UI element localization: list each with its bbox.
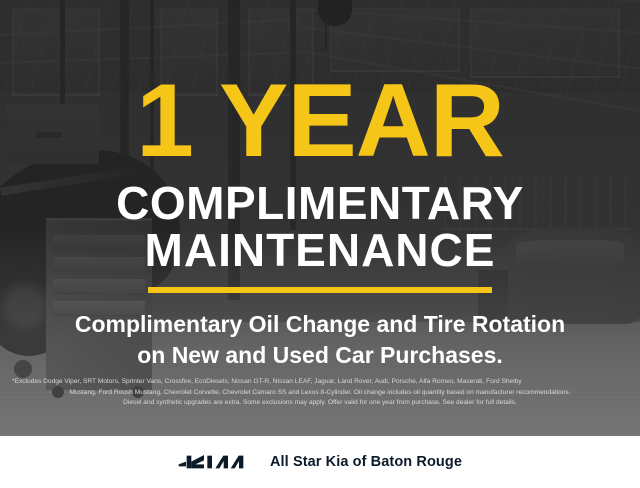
hero-copy: 1 YEAR COMPLIMENTARY MAINTENANCE Complim… <box>0 0 640 436</box>
disclaimer-text: *Excludes Dodge Viper, SRT Motors, Sprin… <box>12 377 628 409</box>
promo-text: Complimentary Oil Change and Tire Rotati… <box>75 309 565 370</box>
advertisement-banner: 1 YEAR COMPLIMENTARY MAINTENANCE Complim… <box>0 0 640 488</box>
disclaimer-line-2: Mustang, Ford Roush Mustang, Chevrolet C… <box>12 388 628 399</box>
banner-hero: 1 YEAR COMPLIMENTARY MAINTENANCE Complim… <box>0 0 640 436</box>
promo-text-line2: on New and Used Car Purchases. <box>75 340 565 370</box>
promo-text-line1: Complimentary Oil Change and Tire Rotati… <box>75 311 565 337</box>
dealer-name: All Star Kia of Baton Rouge <box>270 454 462 470</box>
kia-logo <box>178 451 248 473</box>
disclaimer-line-1: *Excludes Dodge Viper, SRT Motors, Sprin… <box>12 377 628 388</box>
headline-secondary-line1: COMPLIMENTARY <box>116 177 524 229</box>
accent-divider <box>148 287 492 293</box>
disclaimer-line-3: Diesel and synthetic upgrades are extra.… <box>12 398 628 409</box>
headline-secondary: COMPLIMENTARY MAINTENANCE <box>116 180 524 274</box>
headline-primary: 1 YEAR <box>136 74 504 170</box>
footer-brand-bar: All Star Kia of Baton Rouge <box>0 436 640 488</box>
headline-secondary-line2: MAINTENANCE <box>116 227 524 274</box>
